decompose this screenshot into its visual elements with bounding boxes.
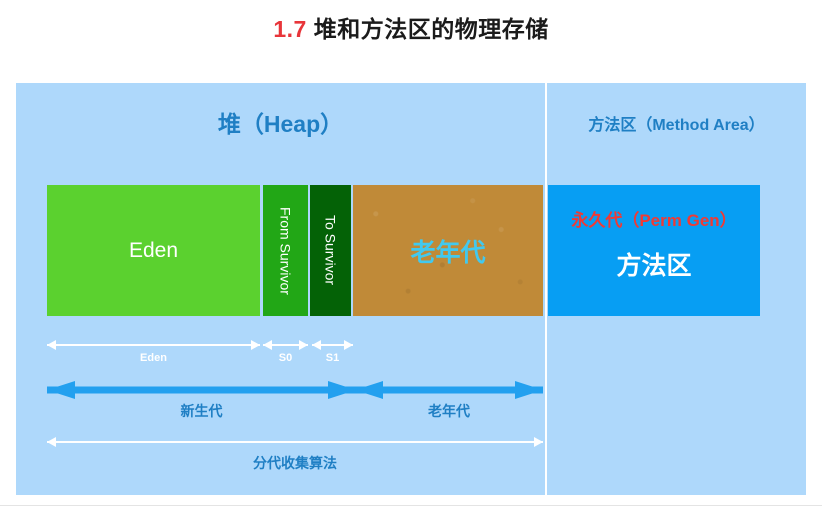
measure-arrow-generational-collection: 分代收集算法: [47, 435, 543, 449]
heap-section-heading: 堆（Heap）: [16, 105, 545, 139]
measure-arrow-s0-label: S0: [263, 352, 308, 364]
page-title-number: 1.7: [273, 16, 306, 42]
arrow-line: [47, 344, 260, 346]
memory-block-old-generation-label: 老年代: [410, 233, 485, 269]
memory-block-eden: Eden: [47, 185, 260, 316]
measure-arrow-generational-collection-label: 分代收集算法: [47, 453, 543, 473]
measure-arrow-s1: S1: [312, 338, 353, 352]
arrow-head-right-icon: [515, 381, 543, 399]
measure-arrow-old-generation: 老年代: [355, 381, 543, 399]
bottom-divider: [0, 505, 822, 506]
memory-block-to-survivor: To Survivor: [310, 185, 351, 316]
arrow-head-left-icon: [47, 340, 56, 350]
arrow-head-left-icon: [263, 340, 272, 350]
measure-arrow-eden-label: Eden: [47, 352, 260, 364]
memory-block-method-area: 永久代（Perm Gen） 方法区: [548, 185, 760, 316]
page-title: 1.7 堆和方法区的物理存储: [0, 10, 822, 44]
arrow-head-left-icon: [355, 381, 383, 399]
method-area-section-heading: 方法区（Method Area）: [547, 111, 806, 135]
measure-arrow-s1-label: S1: [312, 352, 353, 364]
arrow-head-right-icon: [299, 340, 308, 350]
arrow-head-right-icon: [251, 340, 260, 350]
measure-arrow-s0: S0: [263, 338, 308, 352]
arrow-head-right-icon: [534, 437, 543, 447]
measure-arrow-young-generation: 新生代: [47, 381, 356, 399]
arrow-line: [47, 441, 543, 443]
measure-arrow-young-generation-label: 新生代: [47, 401, 356, 421]
arrow-line: [47, 387, 356, 394]
memory-block-to-survivor-label: To Survivor: [323, 215, 339, 285]
memory-block-old-generation: 老年代: [353, 185, 543, 316]
measure-arrow-old-generation-label: 老年代: [355, 401, 543, 421]
page-title-text: 堆和方法区的物理存储: [314, 16, 549, 42]
memory-block-from-survivor: From Survivor: [263, 185, 308, 316]
memory-block-eden-label: Eden: [129, 239, 178, 263]
arrow-head-left-icon: [47, 437, 56, 447]
memory-block-from-survivor-label: From Survivor: [278, 207, 294, 295]
arrow-head-right-icon: [328, 381, 356, 399]
memory-block-method-area-label: 方法区: [616, 246, 691, 282]
perm-gen-label: 永久代（Perm Gen）: [571, 206, 736, 231]
arrow-head-left-icon: [312, 340, 321, 350]
arrow-head-right-icon: [344, 340, 353, 350]
memory-layout-diagram: 堆（Heap） 方法区（Method Area） Eden From Survi…: [16, 83, 806, 495]
arrow-head-left-icon: [47, 381, 75, 399]
measure-arrow-eden: Eden: [47, 338, 260, 352]
heap-method-divider: [545, 83, 547, 495]
